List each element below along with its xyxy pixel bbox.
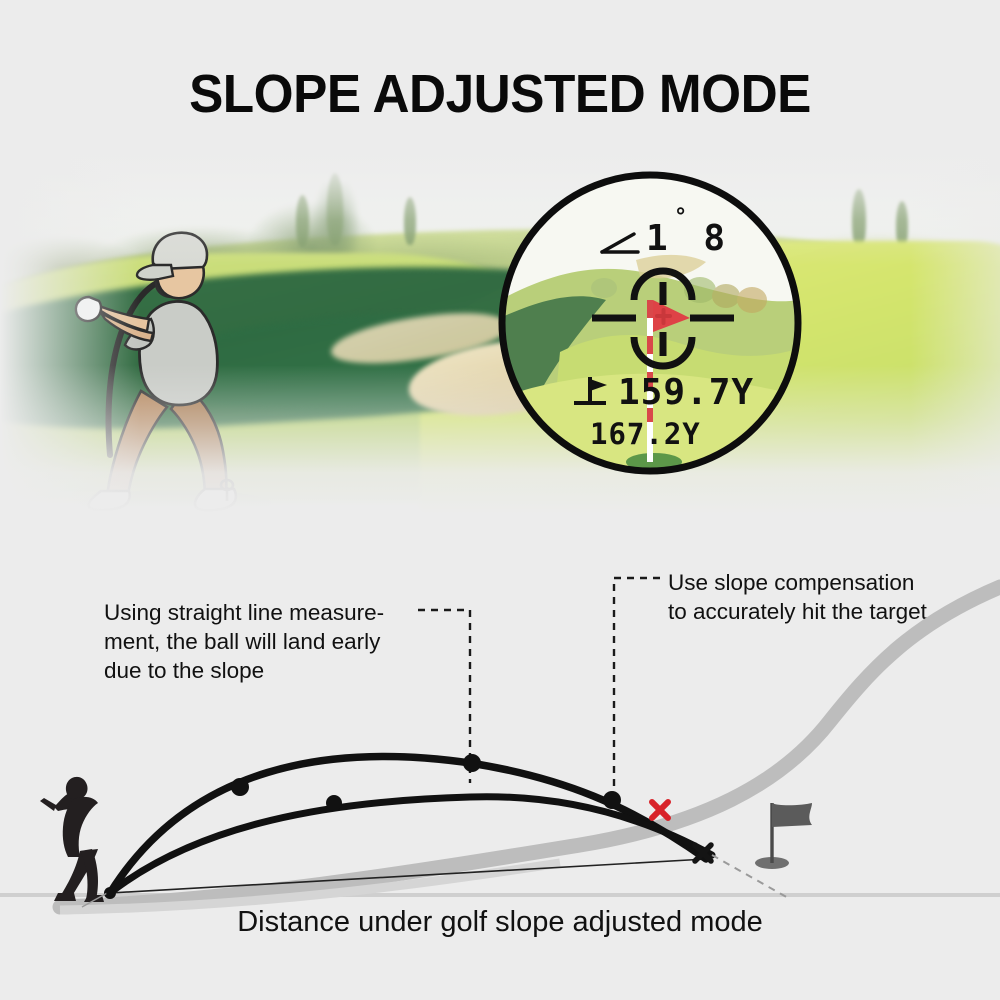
slope-distance-readout: 159.7Y bbox=[618, 372, 754, 413]
arc-dot bbox=[463, 754, 481, 772]
photo-top-fade bbox=[0, 145, 1000, 265]
photo-bottom-fade bbox=[0, 365, 1000, 515]
page-title: SLOPE ADJUSTED MODE bbox=[25, 63, 975, 125]
page-root: SLOPE ADJUSTED MODE bbox=[0, 0, 1000, 1000]
angle-readout: 1 8° bbox=[646, 218, 732, 259]
horizontal-distance-readout: 167.2Y bbox=[590, 417, 701, 451]
golfer-silhouette-icon bbox=[40, 777, 104, 902]
slope-hill-line bbox=[60, 587, 1000, 907]
leader-line-right bbox=[614, 578, 660, 800]
photo-right-fade bbox=[910, 145, 1000, 515]
golf-course-photo bbox=[0, 145, 1000, 515]
arc-dot bbox=[231, 778, 249, 796]
miss-marker bbox=[652, 802, 668, 818]
arc-dot bbox=[603, 791, 621, 809]
photo-left-fade bbox=[0, 145, 140, 515]
diagram-caption: Distance under golf slope adjusted mode bbox=[0, 906, 1000, 939]
green-flag-icon bbox=[772, 803, 812, 863]
arc-dot bbox=[326, 795, 342, 811]
